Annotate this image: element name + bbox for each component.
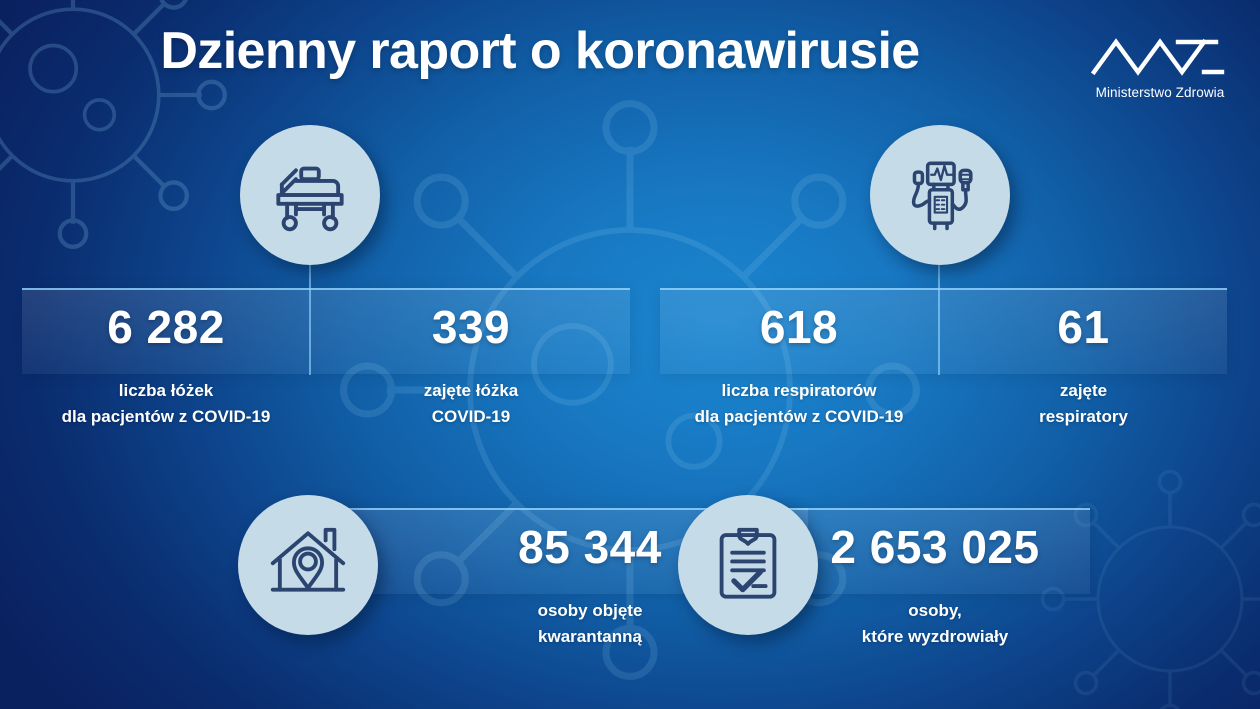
hospital-bed-icon (266, 151, 354, 239)
stat-label-quarantine: osoby objęte kwarantanną (372, 598, 808, 649)
stat-label-beds-total: liczba łóżek dla pacjentów z COVID-19 (22, 378, 310, 429)
stat-value-recovered: 2 653 025 (780, 520, 1090, 574)
house-pin-icon (264, 521, 352, 609)
stat-value-beds-total: 6 282 (22, 300, 310, 354)
mz-logo-icon (1090, 32, 1230, 80)
stat-value-quarantine: 85 344 (372, 520, 808, 574)
stat-label-ventilators-total: liczba respiratorów dla pacjentów z COVI… (660, 378, 938, 429)
stat-value-beds-occupied: 339 (312, 300, 630, 354)
header: Dzienny raport o koronawirusie Ministers… (0, 0, 1260, 120)
coronavirus-daily-report-infographic: Dzienny raport o koronawirusie Ministers… (0, 0, 1260, 709)
stat-value-ventilators-occupied: 61 (940, 300, 1227, 354)
stat-label-ventilators-occupied: zajęte respiratory (940, 378, 1227, 429)
house-pin-icon-circle (238, 495, 378, 635)
stat-label-recovered: osoby, które wyzdrowiały (780, 598, 1090, 649)
stat-value-ventilators-total: 618 (660, 300, 938, 354)
stat-label-beds-occupied: zajęte łóżka COVID-19 (312, 378, 630, 429)
ventilator-icon-circle (870, 125, 1010, 265)
hospital-bed-icon-circle (240, 125, 380, 265)
ministry-logo: Ministerstwo Zdrowia (1082, 32, 1238, 100)
page-title: Dzienny raport o koronawirusie (0, 24, 1080, 79)
ventilator-icon (896, 151, 984, 239)
ministry-logo-caption: Ministerstwo Zdrowia (1082, 85, 1238, 100)
